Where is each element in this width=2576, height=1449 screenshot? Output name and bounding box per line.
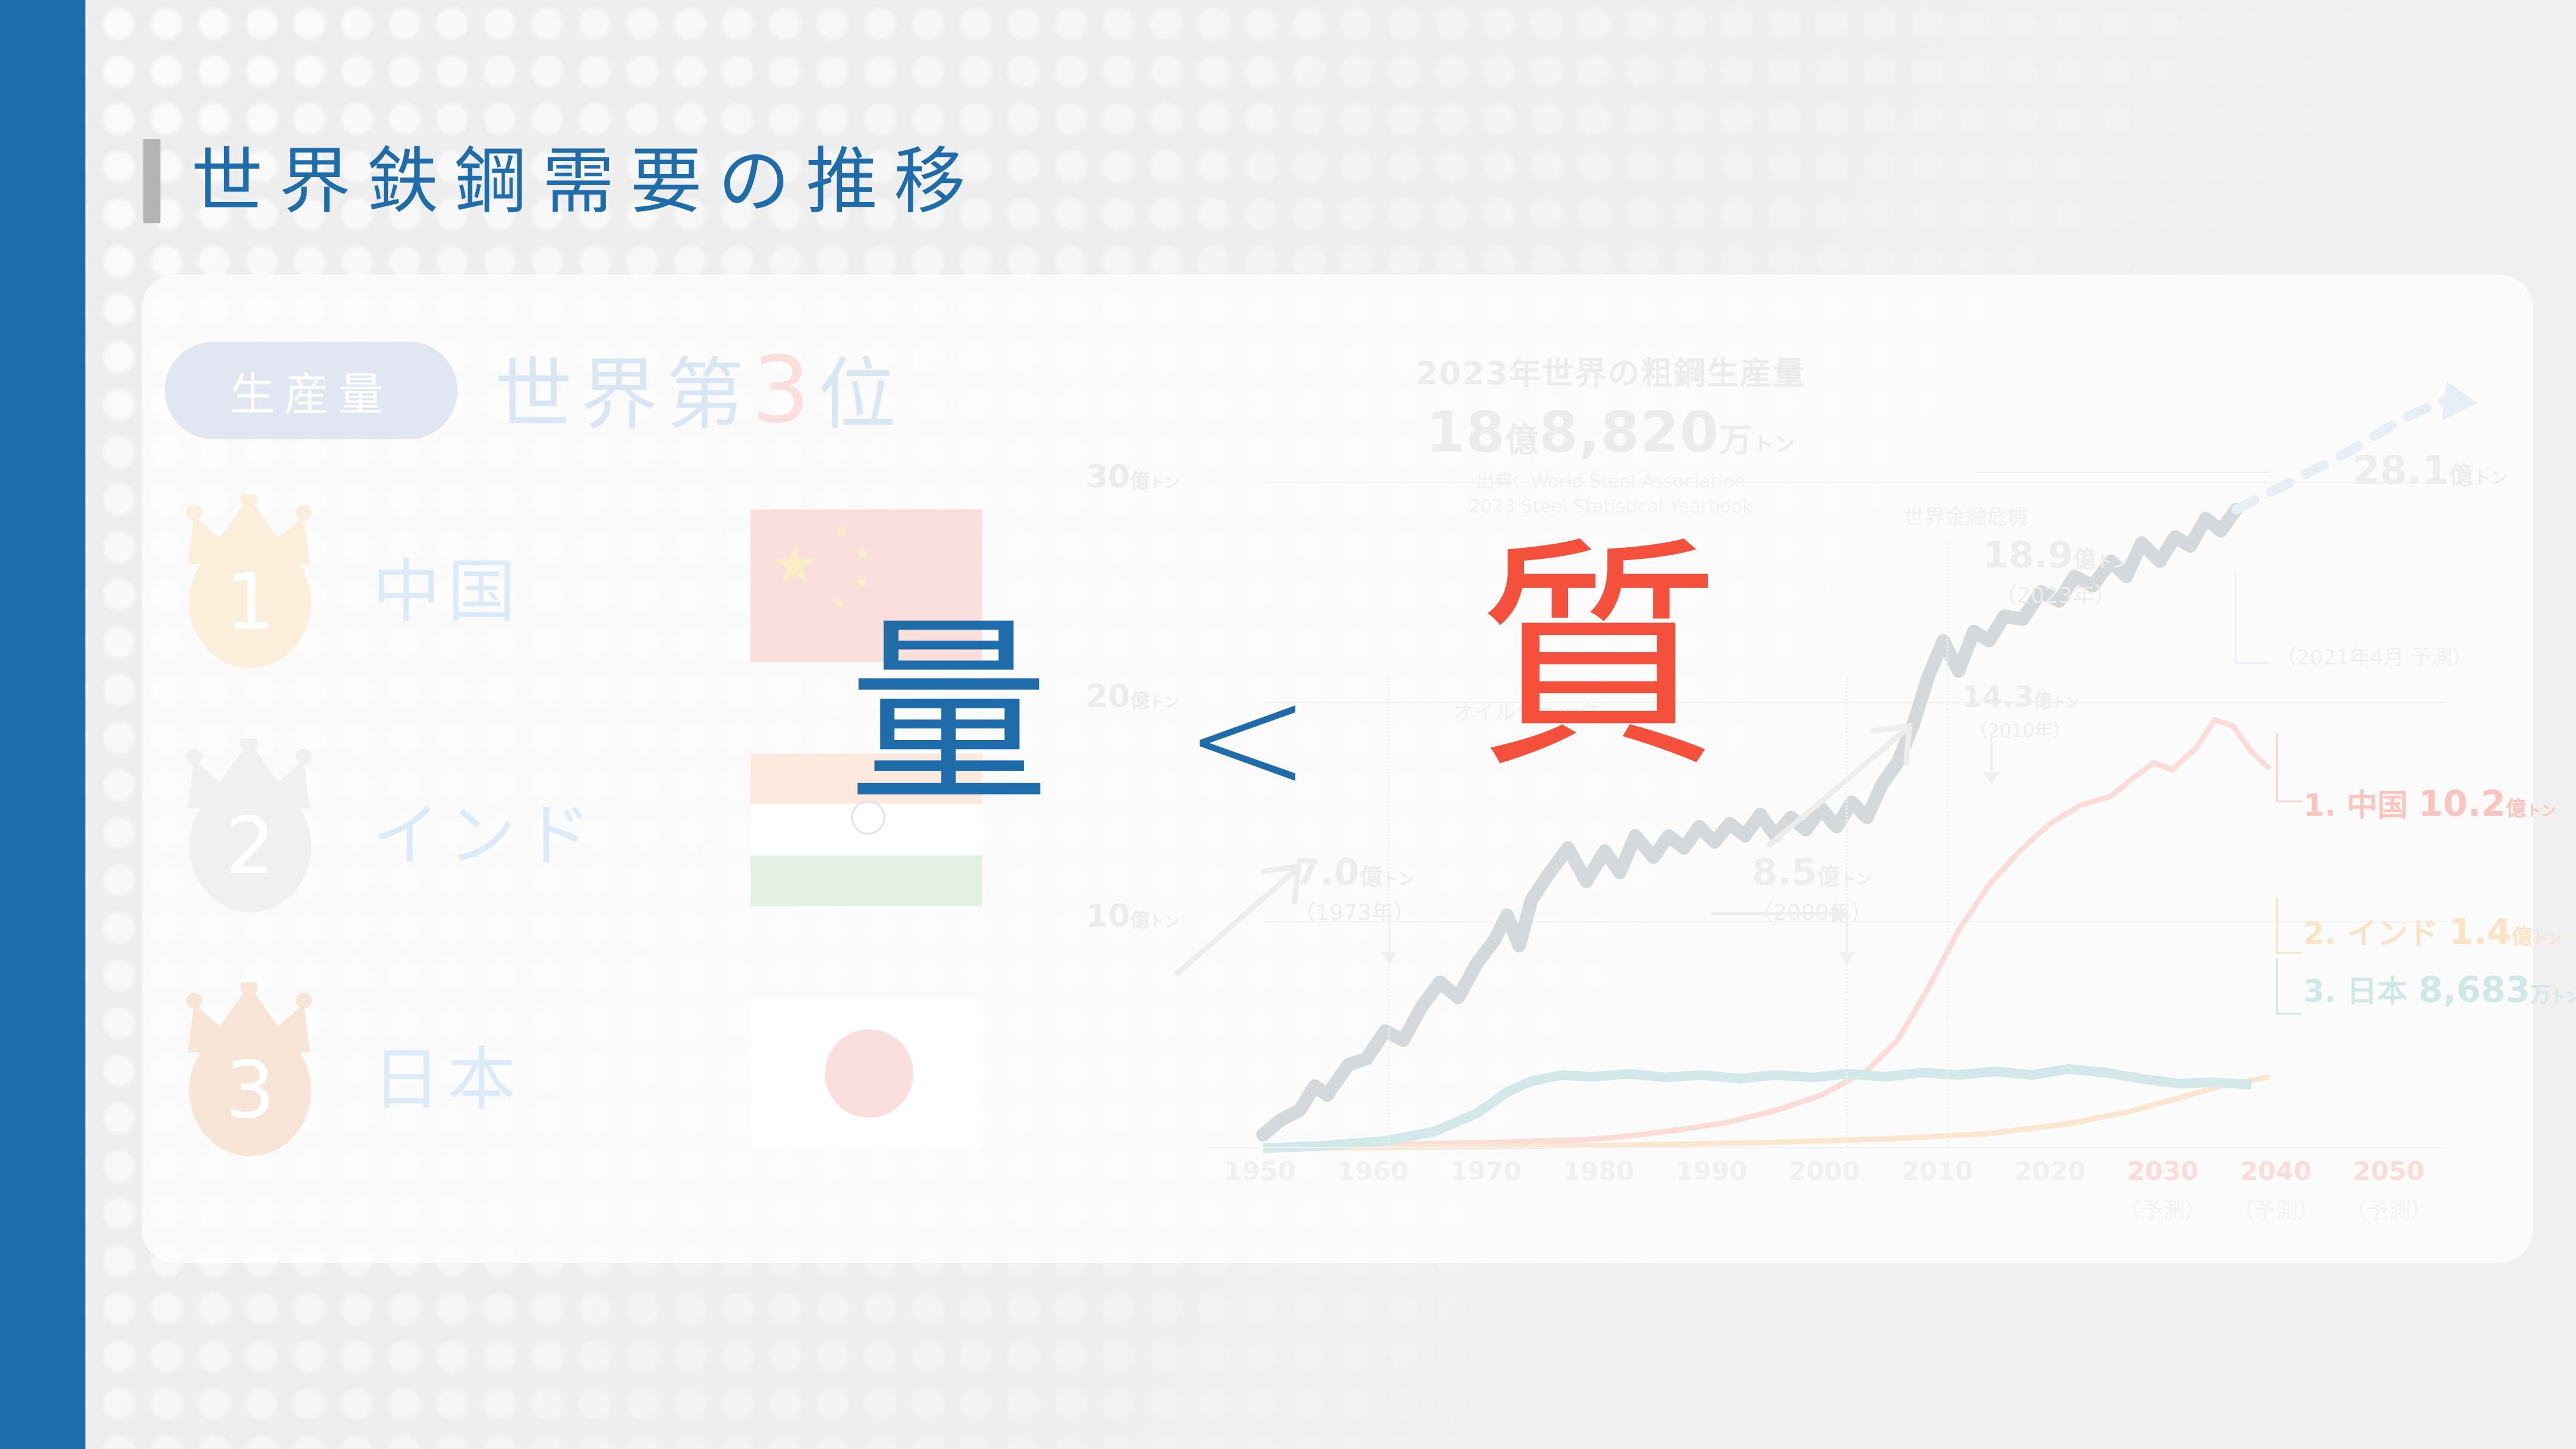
annotation-7-0: 7.0億トン （1973年） (1293, 851, 1416, 927)
page-title: 世界鉄鋼需要の推移 (143, 139, 982, 223)
ann-143-num: 14.3 (1962, 680, 2034, 714)
callout-japan: 3. 日本 8,683万トン (2303, 967, 2576, 1011)
annotation-14-3: 14.3億トン （2010年） (1962, 680, 2079, 742)
world-rank-prefix: 世界第 (494, 350, 752, 440)
ann-70-tonne: トン (1383, 871, 1414, 889)
annotation-8-5: 8.5億トン （2000年） (1751, 851, 1873, 927)
medal-rank-3: 3 (165, 982, 336, 1165)
xtick-1960: 1960 (1324, 1156, 1422, 1186)
ranking-row-3: 3 日本 (165, 982, 982, 1165)
medal-disc-1: 1 (189, 537, 311, 668)
ann-189-tonne: トン (2096, 553, 2128, 572)
xtick-2040-forecast-note: （予測） (2227, 1193, 2325, 1224)
callout-china-tonne: トン (2527, 802, 2556, 819)
ann-70-unit: 億 (1359, 863, 1383, 890)
ann-85-tonne: トン (1840, 871, 1872, 889)
forecast-leader-line (2234, 570, 2270, 664)
medal-rank-1: 1 (165, 494, 336, 677)
callout-leader-china (2276, 733, 2302, 802)
xtick-2050: 2050 (2340, 1156, 2437, 1186)
world-rank-suffix: 位 (818, 350, 904, 440)
callout-leader-japan (2276, 958, 2302, 1015)
ann-143-unit: 億 (2034, 691, 2052, 712)
callout-india: 2. インド 1.4億トン (2303, 909, 2561, 953)
callout-japan-country: 日本 (2347, 974, 2408, 1009)
ann-189-unit: 億 (2073, 546, 2096, 573)
arrow-down-2010 (1990, 735, 1993, 784)
xtick-1980: 1980 (1550, 1156, 1647, 1186)
medal-rank-number-3: 3 (225, 1052, 275, 1130)
xtick-2050-forecast-note: （予測） (2340, 1193, 2437, 1224)
medal-rank-number-2: 2 (225, 808, 275, 886)
callout-china-rank: 1. (2303, 788, 2336, 823)
arrow-right-plateau (1711, 912, 1846, 915)
arrow-down-1973 (1388, 912, 1391, 964)
callout-japan-rank: 3. (2303, 974, 2336, 1009)
xtick-1970: 1970 (1437, 1156, 1534, 1186)
callout-india-rank: 2. (2303, 916, 2336, 951)
ann-143-tonne: トン (2052, 696, 2079, 711)
ann-85-num: 8.5 (1752, 851, 1817, 894)
production-volume-badge-label: 生産量 (230, 358, 392, 423)
annotation-forecast-note: （2021年4月 予測） (2276, 641, 2473, 671)
callout-japan-num: 8,683 (2419, 969, 2530, 1010)
xtick-2040: 2040 (2227, 1156, 2325, 1186)
overlay-glyph-quantity: 量 (848, 613, 1049, 814)
callout-india-tonne: トン (2532, 930, 2561, 947)
ann-70-num: 7.0 (1295, 851, 1359, 894)
ann-85-unit: 億 (1817, 863, 1840, 890)
ann-189-num: 18.9 (1983, 534, 2073, 577)
world-rank-number: 3 (752, 337, 818, 444)
callout-india-country: インド (2347, 916, 2438, 951)
callout-china-num: 10.2 (2419, 783, 2506, 824)
callout-japan-tonne: トン (2551, 988, 2576, 1005)
medal-rank-number-1: 1 (225, 564, 275, 642)
title-accent-bar (143, 139, 160, 223)
overlay-glyph-quality: 質 (1477, 537, 1721, 781)
medal-disc-3: 3 (189, 1025, 311, 1156)
chart-x-axis (1202, 1147, 2447, 1148)
ann-143-year: （2010年） (1962, 716, 2079, 742)
annotation-18-9: 18.9億トン （2023年） (1983, 534, 2128, 609)
marker-line-financial-crisis (1946, 543, 1948, 1147)
xtick-2020: 2020 (2001, 1156, 2099, 1186)
world-rank-headline: 世界第3位 (494, 345, 904, 436)
left-accent-sidebar (0, 0, 85, 1449)
callout-china: 1. 中国 10.2億トン (2303, 781, 2556, 825)
callout-japan-unit: 万 (2530, 983, 2551, 1007)
callout-china-unit: 億 (2506, 797, 2527, 821)
country-name-3: 日本 (372, 1024, 750, 1123)
medal-disc-2: 2 (189, 781, 311, 912)
xtick-1990: 1990 (1663, 1156, 1760, 1186)
ann-70-year: （1973年） (1293, 895, 1416, 927)
country-name-1: 中国 (372, 536, 750, 635)
country-name-2: インド (372, 780, 750, 879)
ranking-headline-row: 生産量 世界第3位 (165, 342, 904, 439)
annotation-financial-crisis: 世界金融危機 (1904, 500, 2028, 530)
xtick-2010: 2010 (1888, 1156, 1986, 1186)
xtick-2030-forecast-note: （予測） (2114, 1193, 2212, 1224)
overlay-comparator-less-than: < (1184, 662, 1311, 814)
xtick-1950: 1950 (1211, 1156, 1309, 1186)
callout-leader-india (2276, 897, 2302, 954)
page-title-text: 世界鉄鋼需要の推移 (191, 145, 982, 217)
hinomaru-icon (825, 1029, 913, 1118)
xtick-2000: 2000 (1775, 1156, 1873, 1186)
production-volume-badge: 生産量 (165, 342, 458, 439)
ann-85-year: （2000年） (1751, 895, 1873, 927)
japan-flag (750, 998, 982, 1150)
medal-rank-2: 2 (165, 738, 336, 921)
callout-india-num: 1.4 (2449, 911, 2512, 952)
callout-india-unit: 億 (2511, 925, 2532, 949)
ann-189-year: （2023年） (1983, 578, 2128, 609)
callout-china-country: 中国 (2347, 788, 2408, 823)
xtick-2030: 2030 (2114, 1156, 2212, 1186)
